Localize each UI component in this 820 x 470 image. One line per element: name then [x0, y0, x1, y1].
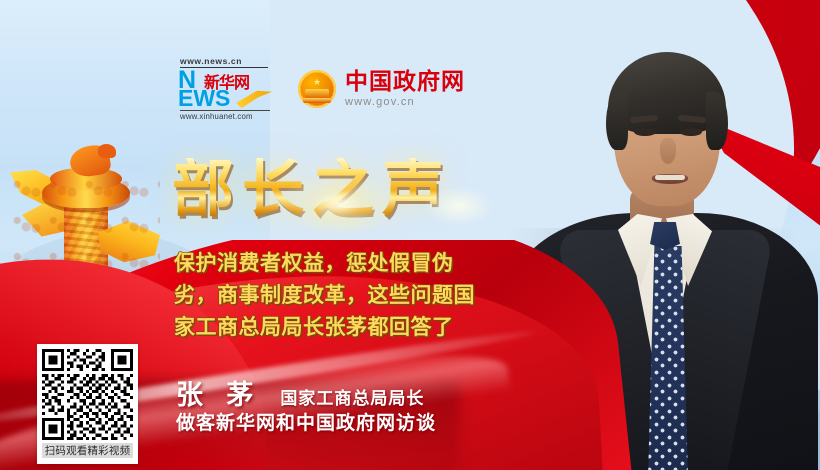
- logo-row: www.news.cn N 新华网 EWS www.xinhuanet.com …: [178, 56, 465, 122]
- guest-name: 张 茅: [176, 373, 260, 412]
- page-title: 部长之声: [172, 158, 452, 220]
- xinhuanet-logo[interactable]: www.news.cn N 新华网 EWS www.xinhuanet.com: [178, 56, 270, 122]
- gov-cn-logo[interactable]: ★ 中国政府网 www.gov.cn: [298, 70, 465, 108]
- guest-description: 做客新华网和中国政府网访谈: [176, 408, 436, 435]
- gov-url: www.gov.cn: [345, 96, 465, 108]
- gov-chinese-name: 中国政府网: [345, 70, 465, 94]
- xinhua-letters-ews: EWS: [178, 87, 230, 110]
- qr-code-block[interactable]: 扫码观看精彩视频: [37, 344, 138, 464]
- national-emblem-icon: ★: [298, 70, 336, 108]
- qr-code-caption: 扫码观看精彩视频: [42, 443, 133, 458]
- guest-name-row: 张 茅 国家工商总局局长: [176, 373, 424, 412]
- qr-code-icon[interactable]: [42, 349, 133, 440]
- minister-voice-banner: www.news.cn N 新华网 EWS www.xinhuanet.com …: [0, 0, 820, 470]
- subtitle-text: 保护消费者权益，惩处假冒伪劣，商事制度改革，这些问题国家工商总局局长张茅都回答了: [174, 248, 496, 344]
- guest-title: 国家工商总局局长: [280, 384, 424, 409]
- xinhua-url-bottom: www.xinhuanet.com: [180, 110, 270, 121]
